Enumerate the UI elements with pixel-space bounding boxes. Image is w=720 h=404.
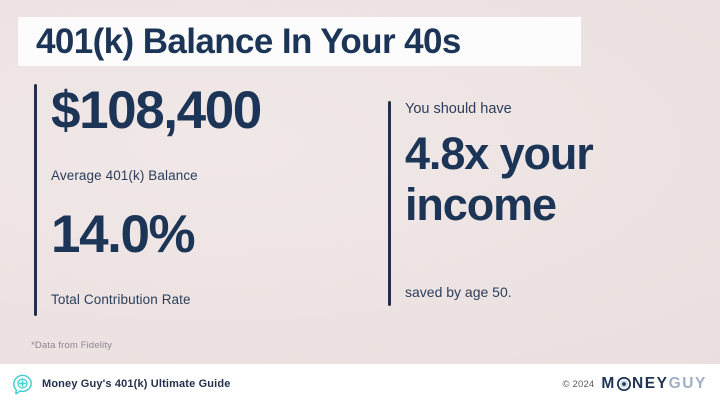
brand-text-m: M — [601, 376, 616, 392]
data-source-footnote: *Data from Fidelity — [31, 340, 112, 351]
brand-text-guy: GUY — [669, 376, 707, 392]
page-title: 401(k) Balance In Your 40s — [18, 24, 461, 59]
contribution-rate-label: Total Contribution Rate — [51, 292, 191, 307]
footer-bar: Money Guy's 401(k) Ultimate Guide © 2024… — [0, 364, 720, 404]
recommendation-lead-in: You should have — [405, 101, 512, 117]
recommendation-tail: saved by age 50. — [405, 284, 512, 300]
brand-text-ney: NEY — [632, 376, 669, 392]
footer-guide-link[interactable]: Money Guy's 401(k) Ultimate Guide — [12, 374, 231, 395]
right-column-divider — [388, 101, 391, 306]
contribution-rate-value: 14.0% — [51, 210, 194, 260]
chat-plus-icon — [12, 374, 33, 395]
average-balance-value: $108,400 — [51, 86, 261, 136]
average-balance-label: Average 401(k) Balance — [51, 168, 198, 183]
left-column-divider — [34, 84, 37, 316]
right-stat-column: You should have 4.8x your income saved b… — [388, 101, 688, 306]
target-o-icon — [617, 377, 631, 391]
footer-guide-label: Money Guy's 401(k) Ultimate Guide — [42, 378, 231, 390]
left-stat-column: $108,400 Average 401(k) Balance 14.0% To… — [34, 84, 364, 316]
recommendation-headline: 4.8x your income — [405, 129, 691, 231]
moneyguy-logo[interactable]: M NEY GUY — [601, 376, 707, 392]
copyright-text: © 2024 — [562, 379, 594, 390]
infographic-root: 401(k) Balance In Your 40s $108,400 Aver… — [0, 0, 720, 404]
page-title-highlight: 401(k) Balance In Your 40s — [18, 17, 581, 66]
footer-branding: © 2024 M NEY GUY — [562, 376, 707, 392]
